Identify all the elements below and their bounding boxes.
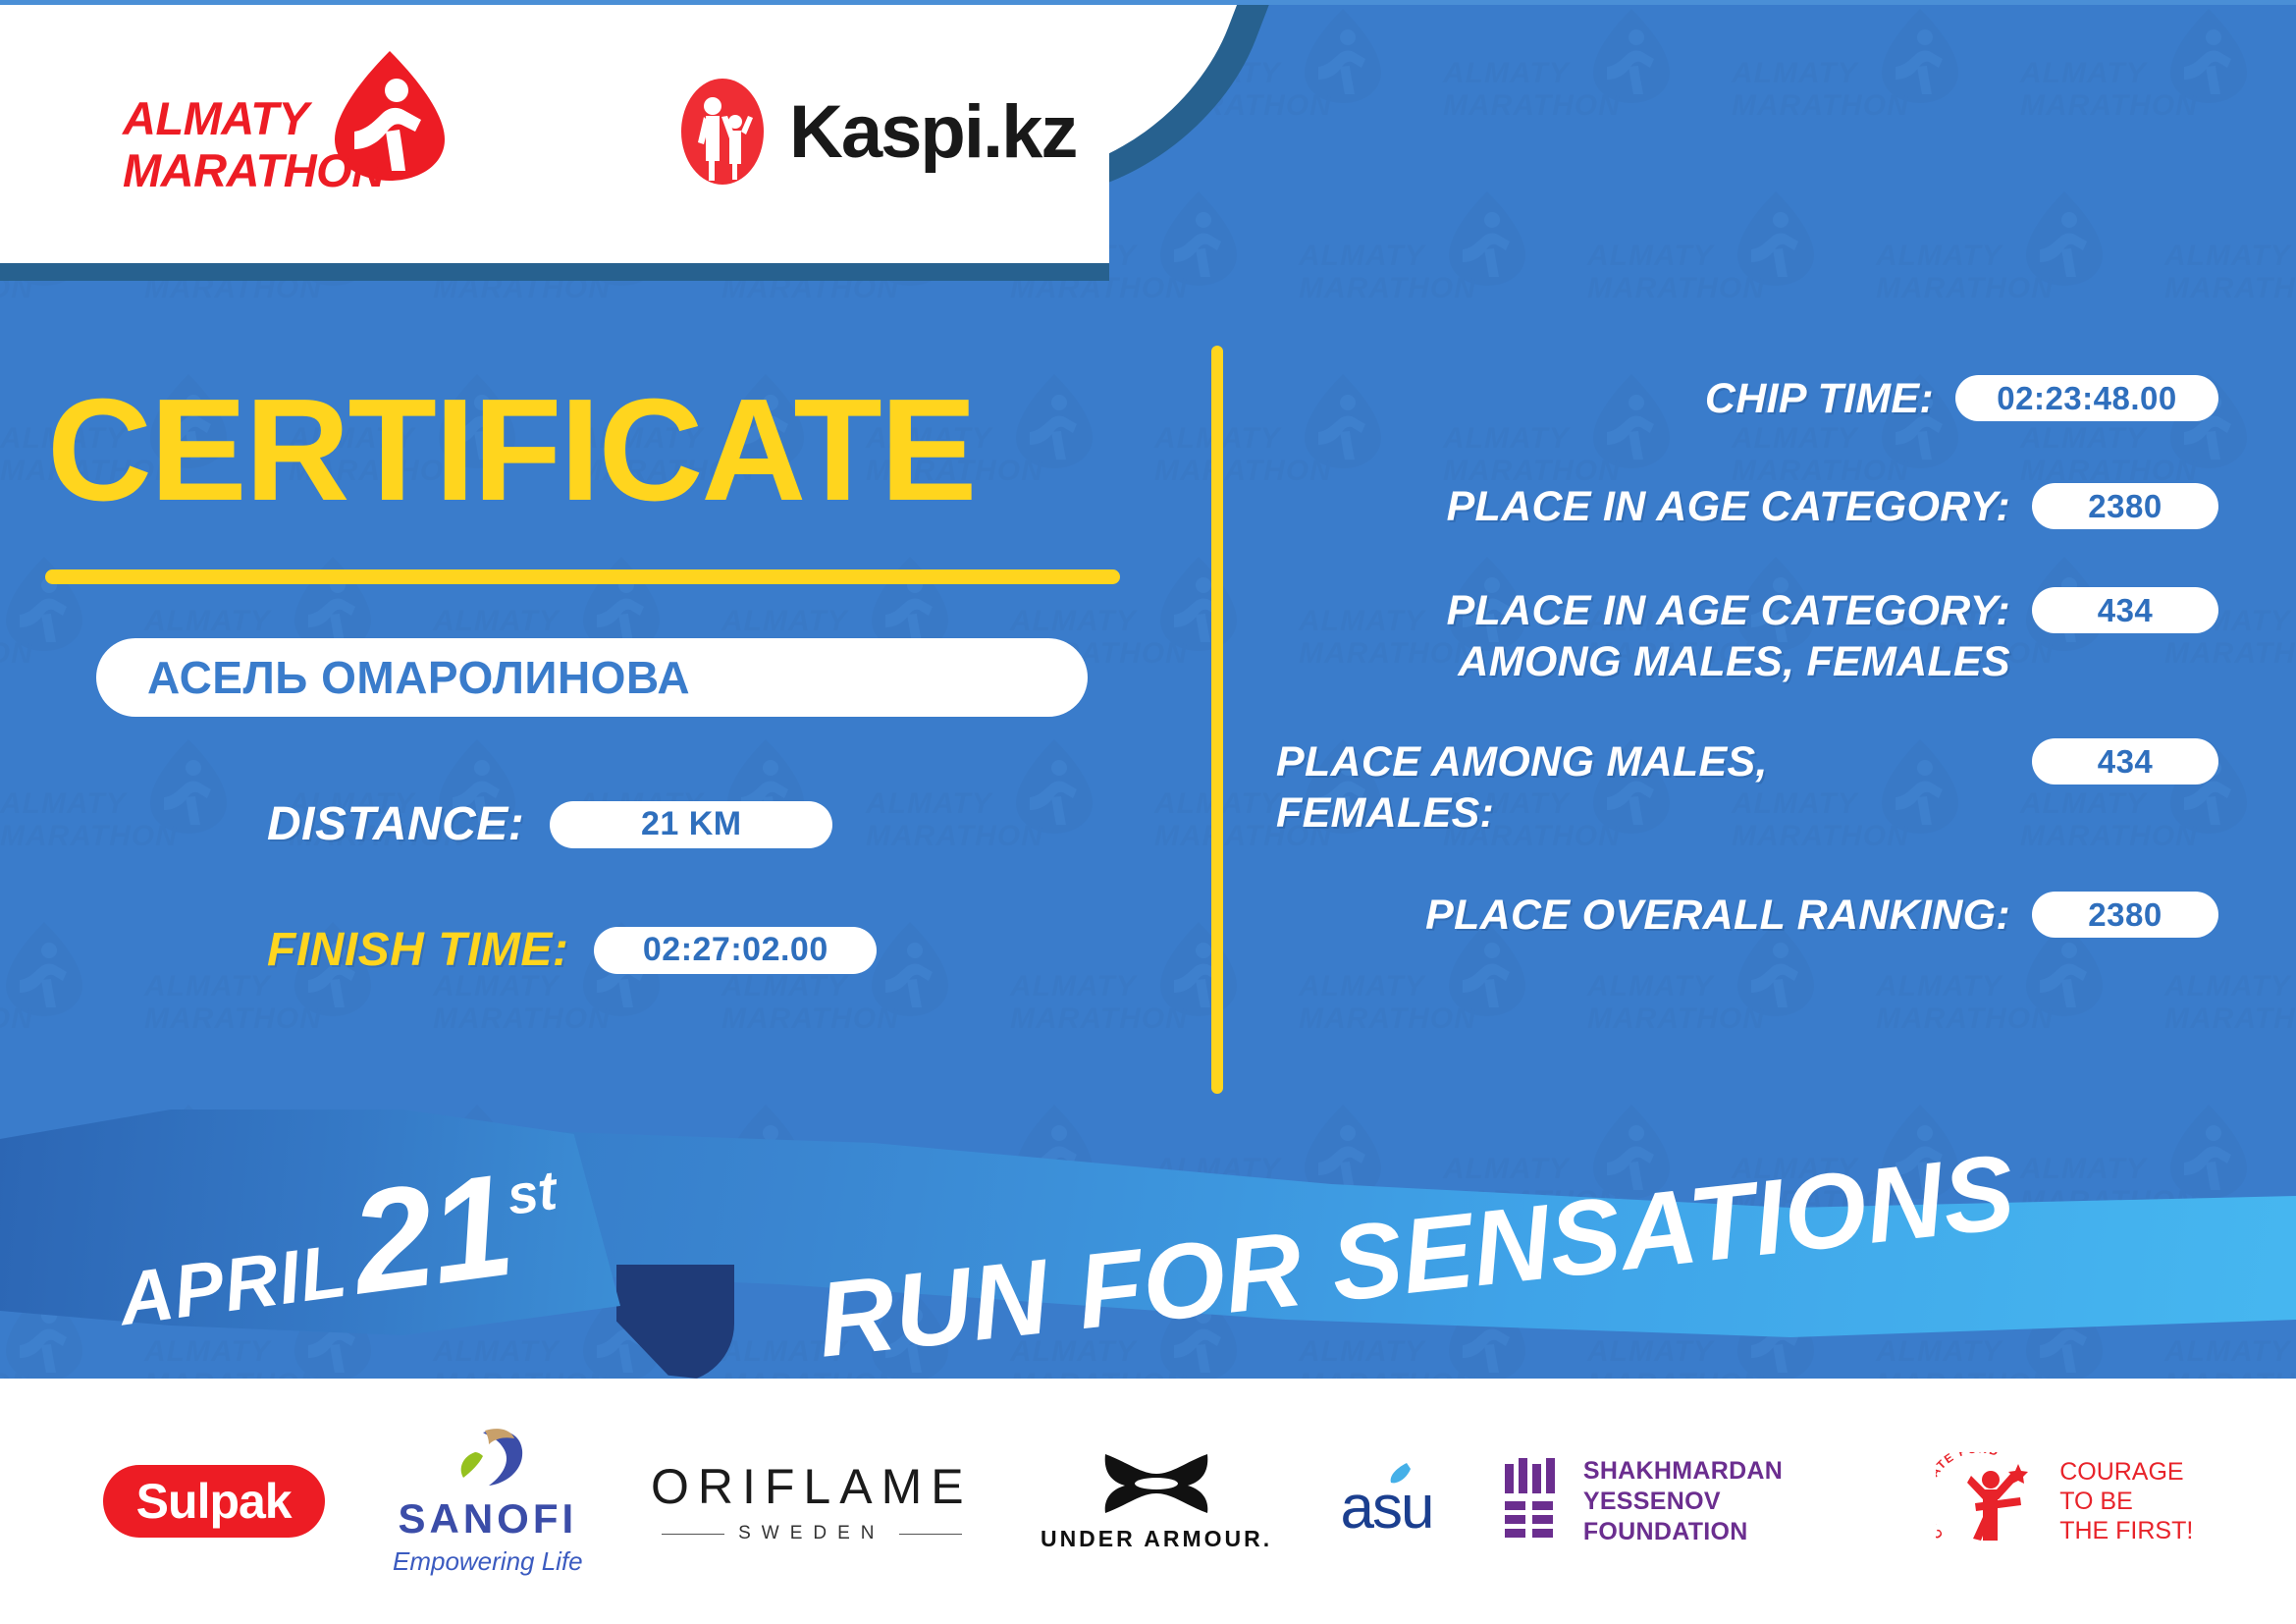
stat-row: PLACE AMONG MALES,FEMALES:434	[1276, 736, 2218, 839]
kaspi-people-icon	[677, 77, 768, 187]
watermark-text: ALMATYMARATHON	[1443, 57, 1621, 122]
watermark-tile: ALMATYMARATHON	[2020, 0, 2296, 187]
sponsor-asu: asu	[1341, 1461, 1433, 1543]
header-strip-rim	[0, 263, 1109, 281]
stat-row: PLACE OVERALL RANKING:2380	[1276, 890, 2218, 948]
stat-value: 434	[2032, 587, 2218, 633]
yessenov-bars-icon	[1501, 1458, 1562, 1544]
oriflame-rule-left	[662, 1534, 724, 1535]
event-ribbon: APRIL 21 st RUN FOR SENSATIONS	[0, 1100, 2296, 1424]
watermark-tile: ALMATYMARATHON	[866, 731, 1160, 917]
sponsor-under-armour: UNDER ARMOUR.	[1041, 1450, 1272, 1552]
oriflame-rule-right	[899, 1534, 962, 1535]
under-armour-icon	[1097, 1450, 1215, 1517]
watermark-tile: ALMATYMARATHON	[1876, 183, 2170, 369]
watermark-text: ALMATYMARATHON	[0, 787, 178, 852]
almaty-marathon-wordmark: ALMATY MARATHON	[123, 92, 385, 196]
watermark-text: ALMATYMARATHON	[1587, 970, 1765, 1035]
sponsors-footer: Sulpak SANOFI Empowering Life ORIFLAME S…	[0, 1379, 2296, 1624]
sulpak-wordmark: Sulpak	[103, 1465, 325, 1538]
watermark-drop-icon	[2167, 6, 2250, 112]
watermark-tile: ALMATYMARATHON	[2164, 183, 2296, 369]
athlete-name-value: АСЕЛЬ ОМАРОЛИНОВА	[147, 651, 690, 704]
stat-row: CHIP TIME:02:23:48.00	[1276, 373, 2218, 432]
oriflame-wordmark: ORIFLAME	[651, 1458, 973, 1515]
distance-row: DISTANCE: 21 KM	[267, 797, 832, 851]
stat-row: PLACE IN AGE CATEGORY:AMONG MALES, FEMAL…	[1276, 585, 2218, 687]
stat-row: PLACE IN AGE CATEGORY:2380	[1276, 481, 2218, 540]
sanofi-tagline: Empowering Life	[393, 1546, 583, 1577]
event-date-month: APRIL	[114, 1228, 351, 1343]
sponsor-yessenov-foundation: SHAKHMARDAN YESSENOVFOUNDATION	[1501, 1456, 1868, 1547]
logo-line-almaty: ALMATY	[123, 92, 385, 144]
oriflame-subline: SWEDEN	[662, 1523, 961, 1544]
watermark-text: ALMATYMARATHON	[866, 787, 1043, 852]
watermark-text: ALMATYMARATHON	[0, 970, 33, 1035]
watermark-drop-icon	[3, 919, 85, 1025]
almaty-marathon-logo: ALMATY MARATHON	[123, 57, 437, 209]
distance-value: 21 KM	[550, 801, 832, 848]
finish-time-value: 02:27:02.00	[594, 927, 877, 974]
watermark-tile: ALMATYMARATHON	[0, 913, 150, 1100]
watermark-drop-icon	[1879, 6, 1961, 112]
sanofi-mark-icon	[446, 1427, 530, 1495]
watermark-text: ALMATYMARATHON	[433, 970, 611, 1035]
stat-label: PLACE OVERALL RANKING:	[1276, 890, 2032, 941]
watermark-text: ALMATYMARATHON	[2164, 240, 2296, 304]
stat-label: PLACE AMONG MALES,FEMALES:	[1276, 736, 2032, 839]
sponsor-logos: Sulpak SANOFI Empowering Life ORIFLAME S…	[0, 1379, 2296, 1624]
sanofi-wordmark: SANOFI	[398, 1495, 577, 1543]
oriflame-sweden-text: SWEDEN	[738, 1523, 884, 1544]
under-armour-wordmark: UNDER ARMOUR.	[1041, 1526, 1272, 1552]
stat-label: PLACE IN AGE CATEGORY:AMONG MALES, FEMAL…	[1276, 585, 2032, 687]
courage-runner-icon: CORPORATE FUND	[1936, 1452, 2044, 1550]
stat-value: 434	[2032, 738, 2218, 785]
watermark-tile: ALMATYMARATHON	[1299, 183, 1593, 369]
finish-time-row: FINISH TIME: 02:27:02.00	[267, 923, 877, 977]
stat-value: 2380	[2032, 483, 2218, 529]
watermark-text: ALMATYMARATHON	[2020, 57, 2198, 122]
watermark-tile: ALMATYMARATHON	[1443, 0, 1737, 187]
watermark-tile: ALMATYMARATHON	[0, 731, 6, 917]
stat-value: 2380	[2032, 892, 2218, 938]
watermark-drop-icon	[147, 736, 230, 842]
results-stats-list: CHIP TIME:02:23:48.00PLACE IN AGE CATEGO…	[1276, 373, 2218, 948]
distance-label: DISTANCE:	[267, 797, 524, 851]
courage-tagline: COURAGETO BETHE FIRST!	[2059, 1457, 2193, 1545]
watermark-drop-icon	[869, 919, 951, 1025]
watermark-text: ALMATYMARATHON	[0, 605, 33, 670]
watermark-text: ALMATYMARATHON	[721, 970, 899, 1035]
stat-value: 02:23:48.00	[1955, 375, 2218, 421]
watermark-text: ALMATYMARATHON	[1732, 57, 1909, 122]
watermark-drop-icon	[1735, 189, 1817, 295]
header-logos: ALMATY MARATHON Kaspi.kz	[0, 0, 1109, 263]
event-date-suffix: st	[504, 1158, 561, 1227]
stat-label: CHIP TIME:	[1276, 373, 1955, 424]
watermark-text: ALMATYMARATHON	[2164, 970, 2296, 1035]
watermark-tile: ALMATYMARATHON	[1732, 0, 2026, 187]
watermark-drop-icon	[1157, 189, 1240, 295]
watermark-text: ALMATYMARATHON	[1010, 970, 1188, 1035]
sponsor-sulpak: Sulpak	[103, 1465, 325, 1538]
sponsor-corporate-fund: CORPORATE FUND COURAGETO BETHE FIRST!	[1936, 1452, 2193, 1550]
watermark-tile: ALMATYMARATHON	[1587, 183, 1882, 369]
watermark-drop-icon	[1157, 919, 1240, 1025]
watermark-drop-icon	[1157, 554, 1240, 660]
watermark-tile: ALMATYMARATHON	[0, 365, 6, 552]
athlete-name-field[interactable]: АСЕЛЬ ОМАРОЛИНОВА	[96, 638, 1088, 717]
watermark-tile: ALMATYMARATHON	[1010, 913, 1305, 1100]
watermark-drop-icon	[1013, 736, 1095, 842]
asu-wordmark: asu	[1341, 1473, 1433, 1543]
title-underline	[45, 569, 1120, 584]
watermark-text: ALMATYMARATHON	[1299, 970, 1476, 1035]
watermark-text: ALMATYMARATHON	[144, 970, 322, 1035]
kaspi-wordmark: Kaspi.kz	[789, 89, 1076, 175]
watermark-drop-icon	[1013, 371, 1095, 477]
watermark-text: ALMATYMARATHON	[1299, 240, 1476, 304]
page-title: CERTIFICATE	[47, 378, 975, 523]
finish-time-label: FINISH TIME:	[267, 923, 568, 977]
yessenov-wordmark: SHAKHMARDAN YESSENOVFOUNDATION	[1583, 1456, 1868, 1547]
vertical-divider	[1211, 346, 1223, 1094]
watermark-text: ALMATYMARATHON	[1587, 240, 1765, 304]
watermark-text: ALMATYMARATHON	[1876, 970, 2054, 1035]
watermark-drop-icon	[2023, 189, 2106, 295]
watermark-drop-icon	[1446, 189, 1528, 295]
sponsor-sanofi: SANOFI Empowering Life	[393, 1427, 583, 1577]
logo-line-marathon: MARATHON	[123, 144, 385, 196]
watermark-drop-icon	[1590, 6, 1673, 112]
watermark-text: ALMATYMARATHON	[1876, 240, 2054, 304]
watermark-tile: ALMATYMARATHON	[0, 731, 294, 917]
kaspi-logo: Kaspi.kz	[677, 77, 1076, 187]
certificate-canvas: ALMATYMARATHON ALMATYMARATHON ALMATYMARA…	[0, 0, 2296, 1624]
sponsor-oriflame: ORIFLAME SWEDEN	[651, 1458, 973, 1544]
stat-label: PLACE IN AGE CATEGORY:	[1276, 481, 2032, 532]
event-date-day: 21	[346, 1166, 517, 1304]
watermark-drop-icon	[1302, 6, 1384, 112]
